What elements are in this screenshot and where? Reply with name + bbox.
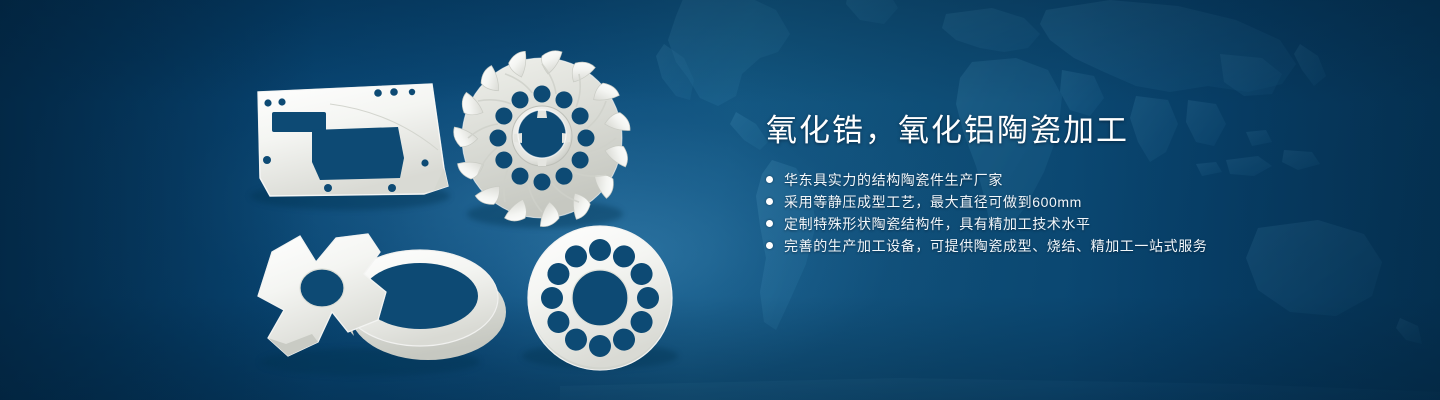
bullet-dot-icon: [766, 242, 773, 249]
bullet-dot-icon: [766, 176, 773, 183]
list-item: 华东具实力的结构陶瓷件生产厂家: [766, 169, 1366, 191]
list-item: 采用等静压成型工艺，最大直径可做到600mm: [766, 191, 1366, 213]
bullet-text: 完善的生产加工设备，可提供陶瓷成型、烧结、精加工一站式服务: [784, 235, 1207, 257]
banner-headline: 氧化锆，氧化铝陶瓷加工: [766, 112, 1366, 151]
banner-text-block: 氧化锆，氧化铝陶瓷加工 华东具实力的结构陶瓷件生产厂家 采用等静压成型工艺，最大…: [766, 112, 1366, 257]
bullet-text: 定制特殊形状陶瓷结构件，具有精加工技术水平: [784, 213, 1091, 235]
bullet-text: 华东具实力的结构陶瓷件生产厂家: [784, 169, 1003, 191]
hero-banner: 氧化锆，氧化铝陶瓷加工 华东具实力的结构陶瓷件生产厂家 采用等静压成型工艺，最大…: [0, 0, 1440, 400]
list-item: 定制特殊形状陶瓷结构件，具有精加工技术水平: [766, 213, 1366, 235]
feature-bullet-list: 华东具实力的结构陶瓷件生产厂家 采用等静压成型工艺，最大直径可做到600mm 定…: [766, 169, 1366, 257]
bullet-dot-icon: [766, 220, 773, 227]
bullet-dot-icon: [766, 198, 773, 205]
bullet-text: 采用等静压成型工艺，最大直径可做到600mm: [784, 191, 1082, 213]
list-item: 完善的生产加工设备，可提供陶瓷成型、烧结、精加工一站式服务: [766, 235, 1366, 257]
